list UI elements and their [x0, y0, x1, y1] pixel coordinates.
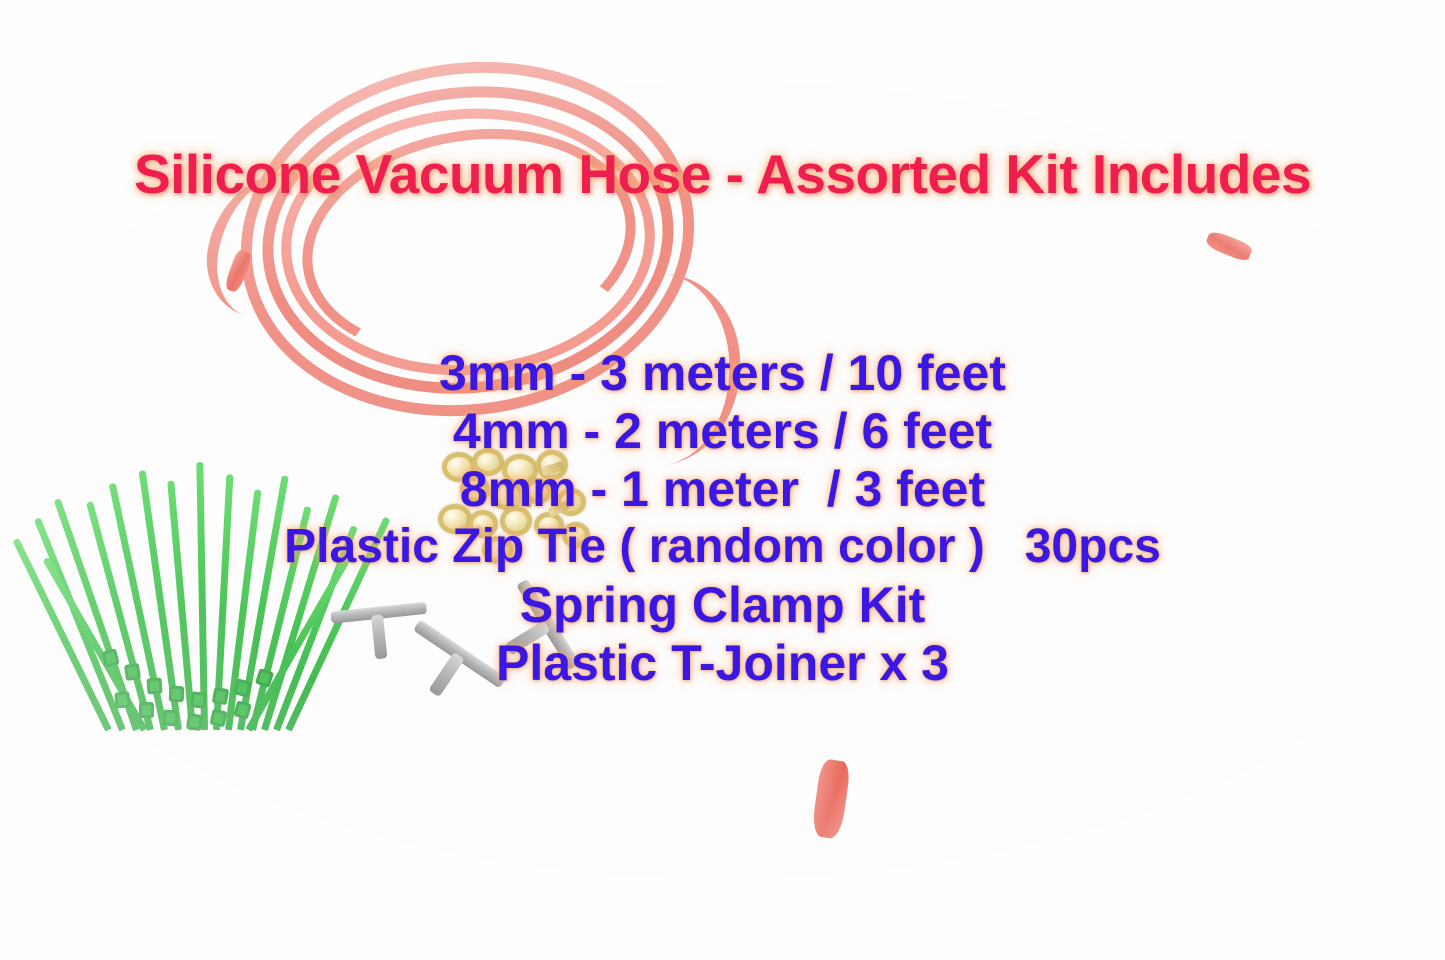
spec-line-8mm: 8mm - 1 meter / 3 feet — [0, 460, 1445, 518]
spec-line-clamp-kit: Spring Clamp Kit — [0, 576, 1445, 634]
spec-line-t-joiner: Plastic T-Joiner x 3 — [0, 634, 1445, 692]
spec-line-zip-ties: Plastic Zip Tie ( random color ) 30pcs — [0, 518, 1445, 576]
product-image: Silicone Vacuum Hose - Assorted Kit Incl… — [0, 0, 1445, 960]
text-overlay: Silicone Vacuum Hose - Assorted Kit Incl… — [0, 0, 1445, 960]
spec-list: 3mm - 3 meters / 10 feet 4mm - 2 meters … — [0, 344, 1445, 692]
headline-text: Silicone Vacuum Hose - Assorted Kit Incl… — [0, 142, 1445, 206]
spec-line-3mm: 3mm - 3 meters / 10 feet — [0, 344, 1445, 402]
spec-line-4mm: 4mm - 2 meters / 6 feet — [0, 402, 1445, 460]
